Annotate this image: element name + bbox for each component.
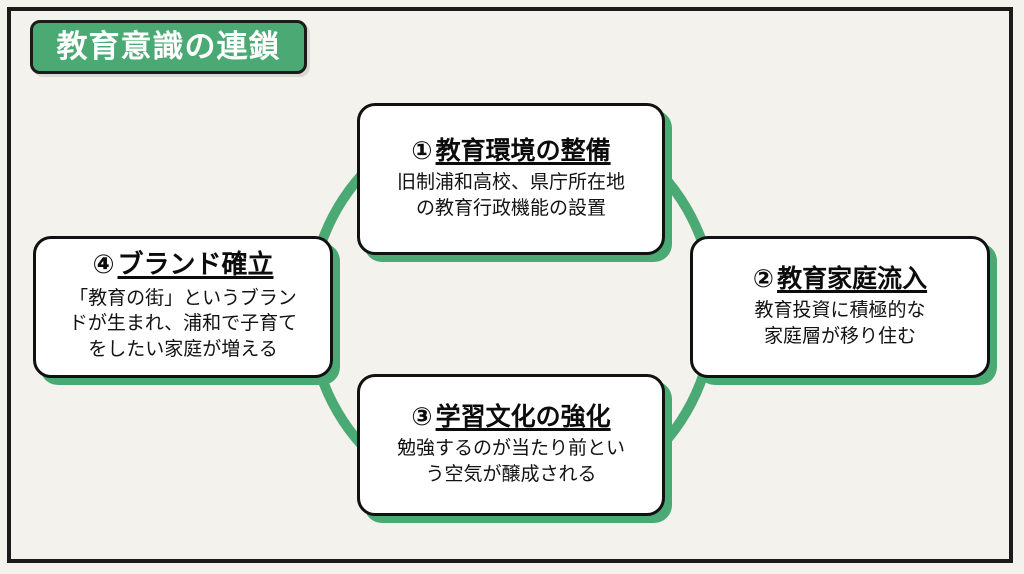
node-4-heading-text: ブランド確立 — [118, 250, 274, 280]
slide-title-badge: 教育意識の連鎖 — [30, 20, 307, 74]
node-3-body: 勉強するのが当たり前とい う空気が醸成される — [397, 436, 625, 487]
node-1-heading: ①教育環境の整備 — [411, 137, 610, 165]
node-2-number: ② — [753, 264, 774, 293]
cycle-node-1[interactable]: ①教育環境の整備 旧制浦和高校、県庁所在地 の教育行政機能の設置 — [357, 103, 665, 255]
slide-title: 教育意識の連鎖 — [57, 32, 281, 63]
node-2-heading-text: 教育家庭流入 — [777, 264, 927, 293]
node-3-number: ③ — [411, 402, 432, 431]
node-3-heading: ③学習文化の強化 — [411, 403, 610, 431]
node-4-body: 「教育の街」というブラン ドが生まれ、浦和で子育て をしたい家庭が増える — [69, 286, 297, 363]
cycle-node-3[interactable]: ③学習文化の強化 勉強するのが当たり前とい う空気が醸成される — [357, 374, 665, 516]
cycle-node-4[interactable]: ④ブランド確立 「教育の街」というブラン ドが生まれ、浦和で子育て をしたい家庭… — [33, 236, 333, 378]
node-1-number: ① — [411, 136, 432, 165]
node-3-heading-text: 学習文化の強化 — [436, 402, 611, 431]
node-4-number: ④ — [92, 250, 114, 280]
node-4-heading: ④ブランド確立 — [92, 251, 273, 280]
node-2-body: 教育投資に積極的な 家庭層が移り住む — [754, 298, 925, 349]
node-2-heading: ②教育家庭流入 — [753, 265, 927, 293]
node-1-heading-text: 教育環境の整備 — [436, 136, 611, 165]
cycle-node-2[interactable]: ②教育家庭流入 教育投資に積極的な 家庭層が移り住む — [690, 236, 990, 378]
slide-canvas: ①教育環境の整備 旧制浦和高校、県庁所在地 の教育行政機能の設置 ②教育家庭流入… — [0, 0, 1024, 574]
node-1-body: 旧制浦和高校、県庁所在地 の教育行政機能の設置 — [397, 170, 625, 221]
